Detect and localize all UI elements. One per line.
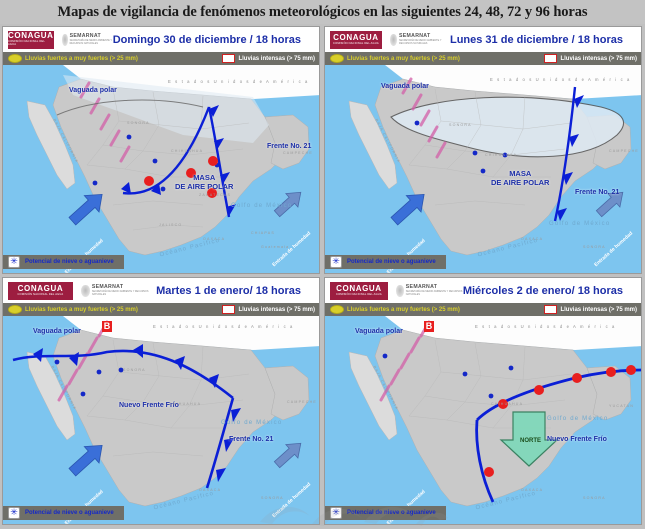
semarnat-logo-subtitle: SECRETARÍA DE MEDIO AMBIENTE Y RECURSOS … — [399, 40, 450, 45]
label-frente-no-21: Frente No. 21 — [575, 189, 619, 196]
conagua-logo-subtitle: COMISIÓN NACIONAL DEL AGUA — [333, 43, 379, 46]
heavy-rain-swatch-icon — [330, 305, 344, 314]
label-state-campeche: CAMPECHE — [287, 400, 317, 404]
page-title: Mapas de vigilancia de fenómenos meteoro… — [0, 0, 645, 24]
label-state-chihuahua: CHIHUAHUA — [171, 149, 203, 153]
snow-potential-label: Potencial de nieve o aguanieve — [347, 259, 436, 265]
legend-intense-rain: Lluvias intensas (> 75 mm) — [544, 54, 637, 63]
legend-intense-rain-label: Lluvias intensas (> 75 mm) — [238, 307, 315, 313]
conagua-logo-name: CONAGUA — [336, 285, 382, 293]
semarnat-logo-subtitle: SECRETARÍA DE MEDIO AMBIENTE Y RECURSOS … — [406, 291, 463, 296]
label-state-chiapas: CHIAPAS — [251, 231, 275, 235]
conagua-logo: CONAGUA COMISIÓN NACIONAL DEL AGUA — [330, 31, 382, 49]
label-vaguada-polar: Vaguada polar — [381, 83, 429, 90]
map-canvas-domingo[interactable]: E s t a d o s U n i d o s d e A m é r i … — [3, 65, 319, 273]
conagua-logo: CONAGUA COMISIÓN NACIONAL DEL AGUA — [8, 31, 54, 49]
label-state-sonora: SONORA — [127, 121, 150, 125]
conagua-logo-name: CONAGUA — [18, 285, 64, 293]
label-frente-no-21: Frente No. 21 — [229, 436, 273, 443]
label-golfo-de-mexico: Golfo de México — [547, 416, 608, 422]
label-state-sonora: SONORA — [449, 123, 472, 127]
label-state-oaxaca: OAXACA — [203, 237, 225, 241]
legend-heavy-rain: Lluvias fuertes a muy fuertes (> 25 mm) — [8, 305, 138, 314]
heavy-rain-swatch-icon — [8, 54, 22, 63]
panel-date-label: Miércoles 2 de enero/ 18 horas — [463, 285, 641, 297]
map-canvas-lunes[interactable]: E s t a d o s U n i d o s d e A m é r i … — [325, 65, 641, 273]
conagua-logo-subtitle: COMISIÓN NACIONAL DEL AGUA — [336, 294, 382, 297]
panel-header: CONAGUA COMISIÓN NACIONAL DEL AGUA SEMAR… — [325, 278, 641, 303]
panel-header: CONAGUA COMISIÓN NACIONAL DEL AGUA SEMAR… — [325, 27, 641, 52]
legend-bar: Lluvias fuertes a muy fuertes (> 25 mm) … — [325, 303, 641, 316]
panel-header: CONAGUA COMISIÓN NACIONAL DEL AGUA SEMAR… — [3, 27, 319, 52]
snowflake-icon: ✳ — [8, 256, 20, 268]
semarnat-logo: SEMARNAT SECRETARÍA DE MEDIO AMBIENTE Y … — [390, 34, 450, 46]
label-norte: NORTE — [520, 438, 541, 444]
legend-heavy-rain-label: Lluvias fuertes a muy fuertes (> 25 mm) — [347, 307, 460, 313]
snow-potential-note: ✳ Potencial de nieve o aguanieve — [325, 255, 446, 269]
heavy-rain-swatch-icon — [330, 54, 344, 63]
panel-date-label: Martes 1 de enero/ 18 horas — [156, 285, 319, 297]
label-state-oaxaca: OAXACA — [199, 488, 221, 492]
legend-bar: Lluvias fuertes a muy fuertes (> 25 mm) … — [3, 303, 319, 316]
label-masa-aire-polar: MASADE AIRE POLAR — [491, 169, 549, 187]
legend-bar: Lluvias fuertes a muy fuertes (> 25 mm) … — [3, 52, 319, 65]
legend-heavy-rain-label: Lluvias fuertes a muy fuertes (> 25 mm) — [347, 56, 460, 62]
label-guatemala: SONORA — [583, 496, 606, 500]
label-usa: E s t a d o s U n i d o s d e A m é r i … — [153, 324, 294, 329]
legend-intense-rain: Lluvias intensas (> 75 mm) — [222, 54, 315, 63]
map-canvas-martes[interactable]: E s t a d o s U n i d o s d e A m é r i … — [3, 316, 319, 524]
semarnat-logo: SEMARNAT SECRETARÍA DE MEDIO AMBIENTE Y … — [396, 285, 463, 297]
label-state-yucatan: YUCATAN — [609, 404, 634, 408]
label-vaguada-polar: Vaguada polar — [69, 87, 117, 94]
semarnat-logo-subtitle: SECRETARÍA DE MEDIO AMBIENTE Y RECURSOS … — [92, 291, 156, 296]
conagua-logo-name: CONAGUA — [333, 34, 379, 42]
label-frente-no-21: Frente No. 21 — [267, 143, 311, 150]
legend-intense-rain-label: Lluvias intensas (> 75 mm) — [560, 56, 637, 62]
conagua-logo: CONAGUA COMISIÓN NACIONAL DEL AGUA — [8, 282, 73, 300]
conagua-logo: CONAGUA COMISIÓN NACIONAL DEL AGUA — [330, 282, 388, 300]
legend-heavy-rain-label: Lluvias fuertes a muy fuertes (> 25 mm) — [25, 307, 138, 313]
intense-rain-swatch-icon — [544, 305, 557, 314]
label-state-campeche: CAMPECHE — [609, 149, 639, 153]
label-state-chihuahua: CHIHUAHUA — [491, 402, 523, 406]
label-state-chihuahua: CHIHUAHUA — [169, 402, 201, 406]
intense-rain-swatch-icon — [544, 54, 557, 63]
label-usa: E s t a d o s U n i d o s d e A m é r i … — [475, 324, 616, 329]
legend-heavy-rain-label: Lluvias fuertes a muy fuertes (> 25 mm) — [25, 56, 138, 62]
label-golfo-de-mexico: Golfo de México — [221, 420, 282, 426]
label-guatemala: SONORA — [583, 245, 606, 249]
map-graphic — [3, 65, 319, 273]
panel-date-label: Lunes 31 de diciembre / 18 horas — [450, 34, 641, 46]
semarnat-logo: SEMARNAT SECRETARÍA DE MEDIO AMBIENTE Y … — [62, 34, 113, 46]
snowflake-icon: ✳ — [8, 507, 20, 519]
legend-heavy-rain: Lluvias fuertes a muy fuertes (> 25 mm) — [8, 54, 138, 63]
map-graphic — [325, 65, 641, 273]
snow-potential-label: Potencial de nieve o aguanieve — [25, 510, 114, 516]
semarnat-logo: SEMARNAT SECRETARÍA DE MEDIO AMBIENTE Y … — [81, 285, 156, 297]
label-guatemala: SONORA — [261, 496, 284, 500]
semarnat-logo-subtitle: SECRETARÍA DE MEDIO AMBIENTE Y RECURSOS … — [70, 40, 113, 45]
eagle-icon — [62, 34, 68, 46]
low-pressure-b-marker: B — [102, 321, 112, 332]
forecast-panel-lunes[interactable]: CONAGUA COMISIÓN NACIONAL DEL AGUA SEMAR… — [324, 26, 642, 274]
forecast-panel-miercoles[interactable]: CONAGUA COMISIÓN NACIONAL DEL AGUA SEMAR… — [324, 277, 642, 525]
legend-intense-rain-label: Lluvias intensas (> 75 mm) — [238, 56, 315, 62]
label-state-oaxaca: OAXACA — [521, 488, 543, 492]
label-usa: E s t a d o s U n i d o s d e A m é r i … — [168, 79, 309, 84]
snow-potential-note: ✳ Potencial de nieve o aguanieve — [325, 506, 446, 520]
label-state-sonora: SONORA — [123, 368, 146, 372]
intense-rain-swatch-icon — [222, 54, 235, 63]
conagua-logo-subtitle: COMISIÓN NACIONAL DEL AGUA — [18, 294, 64, 297]
eagle-icon — [390, 34, 397, 46]
label-golfo-de-mexico: Golfo de México — [231, 203, 292, 209]
label-state-chihuahua: CHIHUAHUA — [485, 153, 517, 157]
heavy-rain-swatch-icon — [8, 305, 22, 314]
screenshot-root: Mapas de vigilancia de fenómenos meteoro… — [0, 0, 645, 529]
eagle-icon — [81, 285, 90, 297]
label-state-campeche: CAMPECHE — [283, 151, 313, 155]
label-guatemala: Guatemala — [261, 245, 289, 249]
forecast-panel-domingo[interactable]: CONAGUA COMISIÓN NACIONAL DEL AGUA SEMAR… — [2, 26, 320, 274]
maps-grid: CONAGUA COMISIÓN NACIONAL DEL AGUA SEMAR… — [0, 24, 645, 529]
legend-bar: Lluvias fuertes a muy fuertes (> 25 mm) … — [325, 52, 641, 65]
panel-date-label: Domingo 30 de diciembre / 18 horas — [113, 34, 319, 46]
snowflake-icon: ✳ — [330, 507, 342, 519]
snow-potential-label: Potencial de nieve o aguanieve — [25, 259, 114, 265]
eagle-icon — [396, 285, 404, 297]
snow-potential-note: ✳ Potencial de nieve o aguanieve — [3, 255, 124, 269]
label-nuevo-frente-frio: Nuevo Frente Frío — [547, 436, 607, 443]
label-masa-aire-polar: MASADE AIRE POLAR — [175, 173, 233, 191]
label-vaguada-polar: Vaguada polar — [355, 328, 403, 335]
label-vaguada-polar: Vaguada polar — [33, 328, 81, 335]
legend-intense-rain-label: Lluvias intensas (> 75 mm) — [560, 307, 637, 313]
label-golfo-de-mexico: Golfo de México — [549, 221, 610, 227]
legend-intense-rain: Lluvias intensas (> 75 mm) — [544, 305, 637, 314]
conagua-logo-subtitle: COMISIÓN NACIONAL DEL AGUA — [8, 41, 54, 46]
label-state-zacatecas: ZACATECAS — [199, 193, 231, 197]
legend-intense-rain: Lluvias intensas (> 75 mm) — [222, 305, 315, 314]
label-state-jalisco: JALISCO — [159, 223, 182, 227]
forecast-panel-martes[interactable]: CONAGUA COMISIÓN NACIONAL DEL AGUA SEMAR… — [2, 277, 320, 525]
map-canvas-miercoles[interactable]: E s t a d o s U n i d o s d e A m é r i … — [325, 316, 641, 524]
snow-potential-note: ✳ Potencial de nieve o aguanieve — [3, 506, 124, 520]
intense-rain-swatch-icon — [222, 305, 235, 314]
low-pressure-b-marker: B — [424, 321, 434, 332]
label-usa: E s t a d o s U n i d o s d e A m é r i … — [490, 77, 631, 82]
snowflake-icon: ✳ — [330, 256, 342, 268]
legend-heavy-rain: Lluvias fuertes a muy fuertes (> 25 mm) — [330, 305, 460, 314]
panel-header: CONAGUA COMISIÓN NACIONAL DEL AGUA SEMAR… — [3, 278, 319, 303]
legend-heavy-rain: Lluvias fuertes a muy fuertes (> 25 mm) — [330, 54, 460, 63]
snow-potential-label: Potencial de nieve o aguanieve — [347, 510, 436, 516]
label-state-oaxaca: OAXACA — [521, 237, 543, 241]
